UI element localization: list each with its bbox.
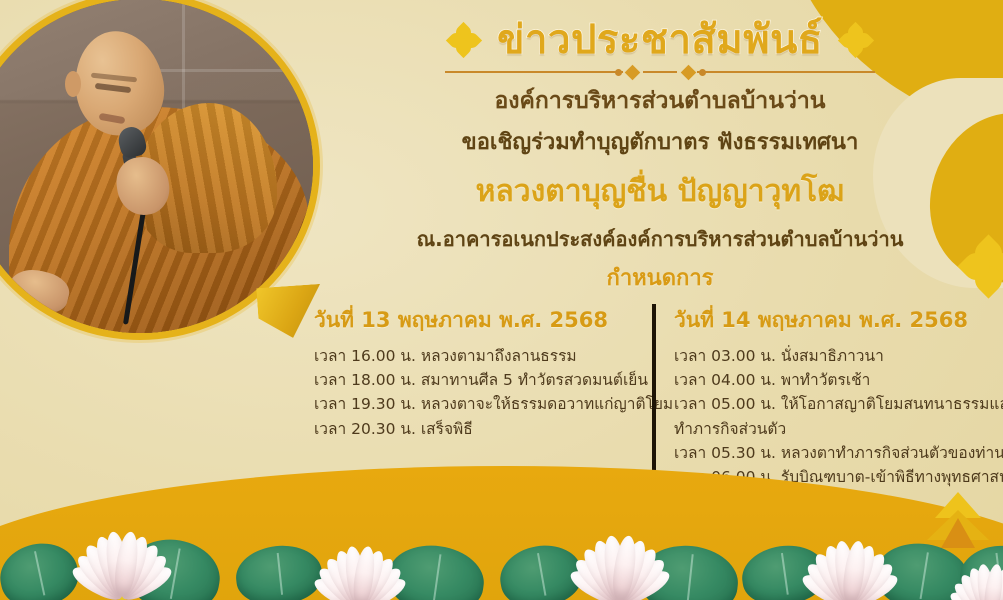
lotus-flower	[792, 514, 907, 600]
divider-dot-left	[615, 69, 622, 76]
schedule-item: เวลา 16.00 น. หลวงตามาถึงลานธรรม	[314, 344, 638, 368]
organization-name: องค์การบริหารส่วนตำบลบ้านว่าน	[330, 85, 990, 118]
schedule-item: เวลา 05.00 น. ให้โอกาสญาติโยมสนทนาธรรมแล…	[674, 392, 986, 416]
schedule-heading: วันที่ 14 พฤษภาคม พ.ศ. 2568	[674, 304, 986, 337]
invitation-text: ขอเชิญร่วมทำบุญตักบาตร ฟังธรรมเทศนา	[330, 128, 990, 159]
flower-ornament-icon-edge	[963, 240, 1003, 292]
venue-text: ณ.อาคารอเนกประสงค์องค์การบริหารส่วนตำบลบ…	[330, 226, 990, 253]
lotus-flower	[560, 508, 680, 600]
divider-diamond-left	[625, 65, 641, 81]
schedule-item: เวลา 04.00 น. พาทำวัตรเช้า	[674, 368, 986, 392]
schedule-item: เวลา 18.00 น. สมาทานศีล 5 ทำวัตรสวดมนต์เ…	[314, 368, 638, 392]
page-title: ข่าวประชาสัมพันธ์	[497, 18, 823, 63]
header-block: ข่าวประชาสัมพันธ์ องค์การบริหารส่วนตำบลบ…	[330, 18, 990, 295]
ornamental-divider	[445, 65, 875, 79]
lotus-flower	[62, 504, 182, 600]
schedule-item-continuation: ทำภารกิจส่วนตัว	[674, 417, 986, 441]
lotus-flower	[305, 521, 415, 600]
monk-name: หลวงตาบุญชื่น ปัญญาวุทโฒ	[330, 168, 990, 215]
schedule-heading: วันที่ 13 พฤษภาคม พ.ศ. 2568	[314, 304, 638, 337]
monk-photo	[0, 0, 313, 333]
divider-line-right	[697, 71, 875, 73]
poster-canvas: ข่าวประชาสัมพันธ์ องค์การบริหารส่วนตำบลบ…	[0, 0, 1003, 600]
lotus-flower	[942, 542, 1003, 600]
monk-ear	[65, 71, 81, 97]
divider-line-left	[445, 71, 623, 73]
schedule-item: เวลา 05.30 น. หลวงตาทำภารกิจส่วนตัวของท่…	[674, 441, 986, 465]
flower-ornament-icon-left	[449, 25, 479, 55]
divider-diamond-right	[681, 65, 697, 81]
schedule-item: เวลา 19.30 น. หลวงตาจะให้ธรรมดอวาทแก่ญาต…	[314, 392, 638, 416]
agenda-heading: กำหนดการ	[330, 260, 990, 295]
divider-line-middle	[643, 71, 677, 73]
flower-ornament-icon-right	[841, 25, 871, 55]
schedule-item: เวลา 03.00 น. นั่งสมาธิภาวนา	[674, 344, 986, 368]
schedule-item: เวลา 20.30 น. เสร็จพิธี	[314, 417, 638, 441]
title-row: ข่าวประชาสัมพันธ์	[330, 18, 990, 63]
